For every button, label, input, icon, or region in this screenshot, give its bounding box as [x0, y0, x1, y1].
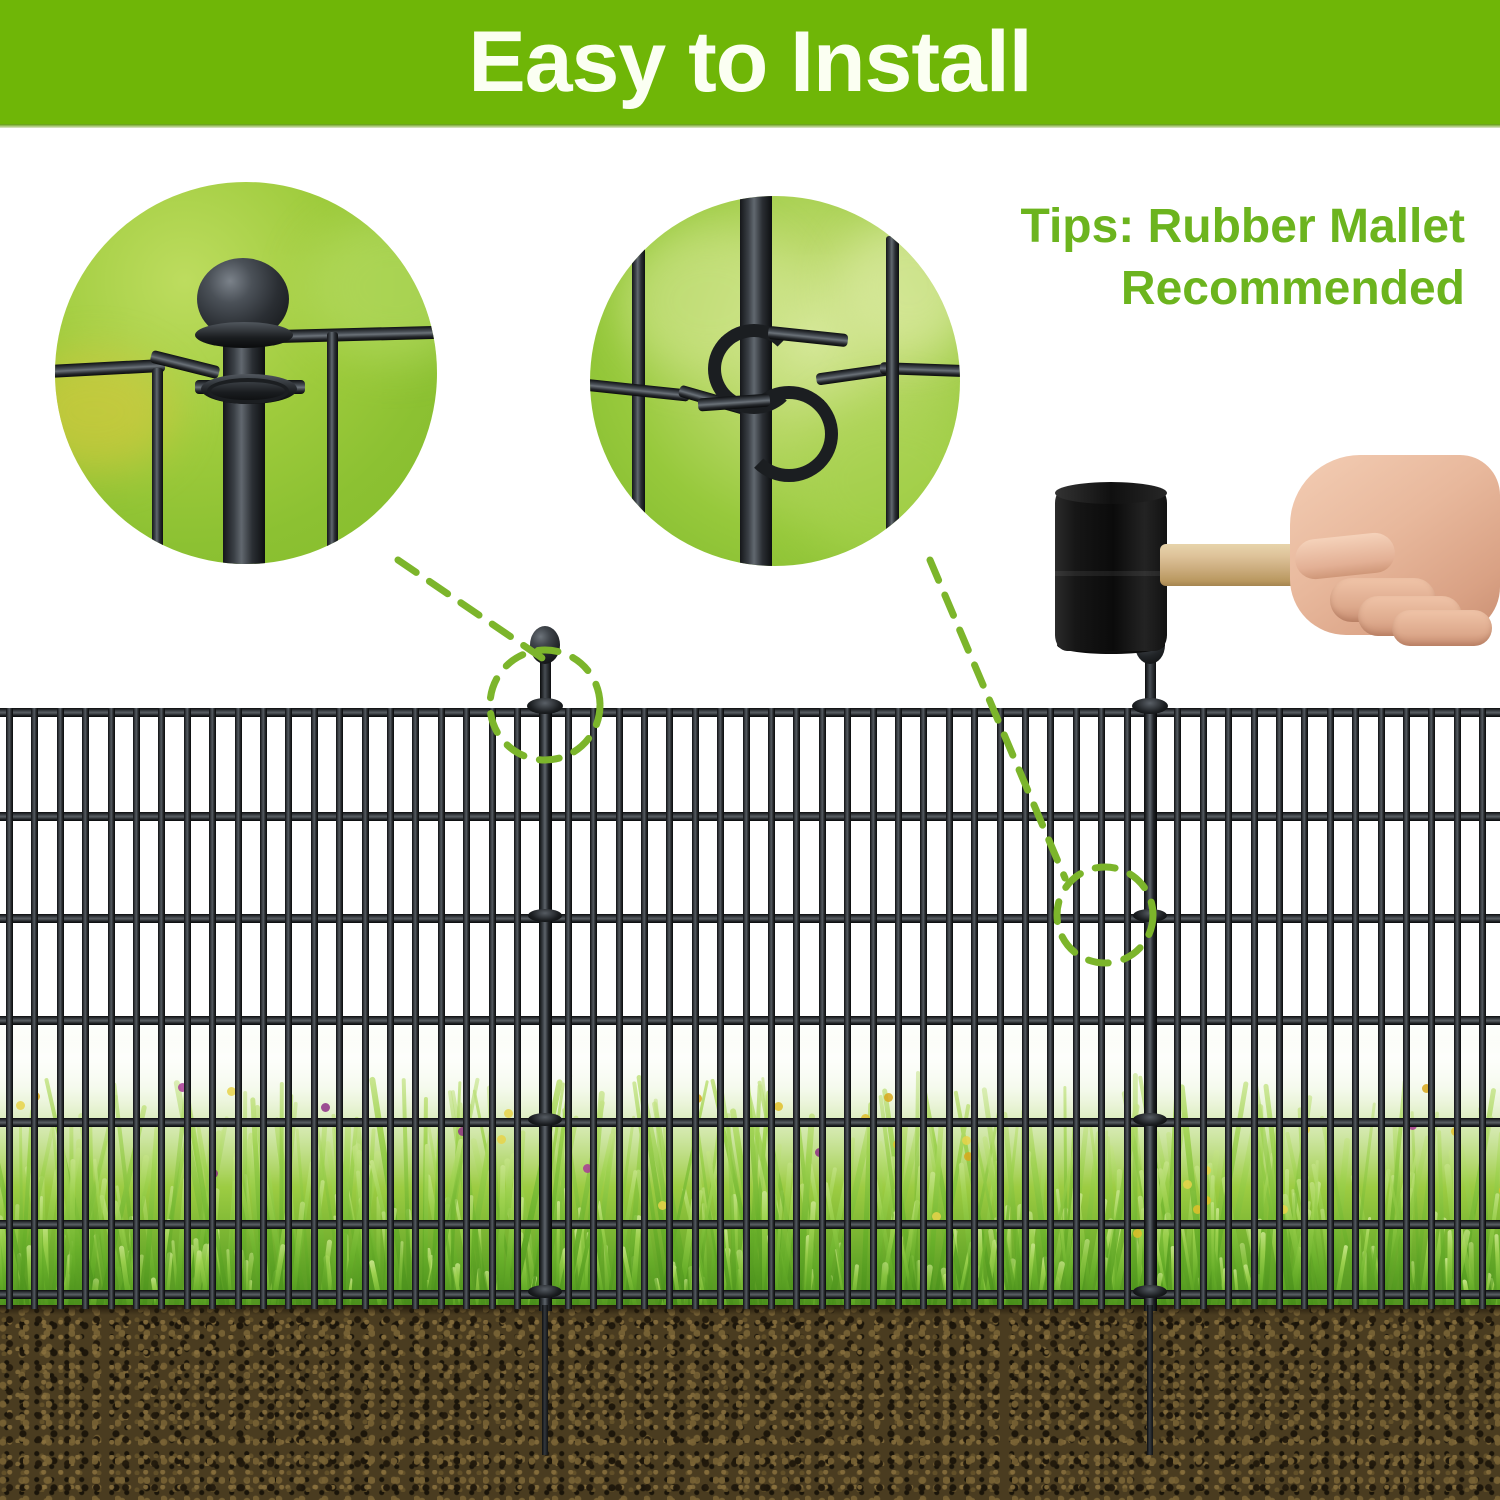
- fence-picket: [209, 708, 216, 1309]
- fence-picket: [1124, 708, 1131, 1309]
- fence-picket: [412, 708, 419, 1309]
- fence-picket: [590, 708, 597, 1309]
- fence-picket: [158, 708, 165, 1309]
- fence-picket: [819, 708, 826, 1309]
- fence-picket: [1022, 708, 1029, 1309]
- fence-picket: [1073, 708, 1080, 1309]
- fence-picket: [235, 708, 242, 1309]
- fence-picket: [6, 708, 13, 1309]
- fence-picket: [616, 708, 623, 1309]
- fence-picket: [489, 708, 496, 1309]
- fence-rail: [0, 1290, 539, 1299]
- banner-bottom-edge: [0, 124, 1500, 128]
- page-title: Easy to Install: [0, 12, 1500, 112]
- ball-finial-closeup: [55, 182, 437, 564]
- fence-picket: [31, 708, 38, 1309]
- fence-picket: [133, 708, 140, 1309]
- fence-picket: [971, 708, 978, 1309]
- fence-picket: [1479, 708, 1486, 1309]
- fence-picket: [997, 708, 1004, 1309]
- fence-picket: [1428, 708, 1435, 1309]
- product-infographic: Easy to Install Tips: Rubber Mallet Reco…: [0, 0, 1500, 1500]
- fence-picket: [565, 708, 572, 1309]
- panel-connector-joint: [528, 1113, 562, 1126]
- tips-line-2: Recommended: [945, 258, 1465, 320]
- fence-rail: [0, 1220, 539, 1229]
- fence-picket: [362, 708, 369, 1309]
- fence-picket: [82, 708, 89, 1309]
- fence-picket: [793, 708, 800, 1309]
- tips-text: Tips: Rubber Mallet Recommended: [945, 196, 1465, 320]
- fence-rail: [0, 914, 539, 923]
- panel-connector-joint: [1133, 1113, 1167, 1126]
- fence-picket: [946, 708, 953, 1309]
- fence-picket: [743, 708, 750, 1309]
- finial-base: [527, 698, 563, 714]
- fence-post: [539, 706, 552, 1311]
- fence-picket: [920, 708, 927, 1309]
- fence-picket: [438, 708, 445, 1309]
- fence-rail: [0, 708, 539, 717]
- mallet-head-top: [1055, 482, 1167, 504]
- fence-picket: [1276, 708, 1283, 1309]
- tips-line-1: Tips: Rubber Mallet: [945, 196, 1465, 258]
- fence-picket: [666, 708, 673, 1309]
- fence-post: [1144, 706, 1157, 1311]
- fence-rail: [0, 1118, 539, 1127]
- fence-picket: [311, 708, 318, 1309]
- fence-picket: [184, 708, 191, 1309]
- ball-finial: [530, 626, 560, 664]
- fence-picket: [1454, 708, 1461, 1309]
- mallet-head: [1055, 487, 1167, 651]
- fence-picket: [514, 708, 521, 1309]
- fence-picket: [1378, 708, 1385, 1309]
- fence-picket: [336, 708, 343, 1309]
- fence-picket: [717, 708, 724, 1309]
- fence-picket: [57, 708, 64, 1309]
- fence-rail: [0, 1016, 539, 1025]
- fence-picket: [463, 708, 470, 1309]
- fence-picket: [768, 708, 775, 1309]
- fence-picket: [1403, 708, 1410, 1309]
- panel-connector-joint: [1133, 909, 1167, 922]
- fence-picket: [1301, 708, 1308, 1309]
- fence-picket: [1200, 708, 1207, 1309]
- ground-stake: [542, 1305, 548, 1455]
- fence-picket: [1225, 708, 1232, 1309]
- fence-rail: [0, 812, 539, 821]
- fence-picket: [1098, 708, 1105, 1309]
- hook-connector-closeup: [590, 196, 960, 566]
- fence-picket: [1174, 708, 1181, 1309]
- fence-picket: [641, 708, 648, 1309]
- fence-picket: [387, 708, 394, 1309]
- finger-ring: [1392, 610, 1492, 646]
- fence-picket: [1047, 708, 1054, 1309]
- fence-picket: [844, 708, 851, 1309]
- fence-picket: [285, 708, 292, 1309]
- fence-picket: [108, 708, 115, 1309]
- fence-picket: [692, 708, 699, 1309]
- fence-picket: [870, 708, 877, 1309]
- panel-connector-joint: [1133, 1285, 1167, 1298]
- fence-picket: [1327, 708, 1334, 1309]
- fence-picket: [1251, 708, 1258, 1309]
- panel-connector-joint: [528, 1285, 562, 1298]
- finial-base: [1132, 698, 1168, 714]
- fence-picket: [260, 708, 267, 1309]
- ground-stake: [1147, 1305, 1153, 1455]
- panel-connector-joint: [528, 909, 562, 922]
- fence-picket: [895, 708, 902, 1309]
- fence-picket: [1352, 708, 1359, 1309]
